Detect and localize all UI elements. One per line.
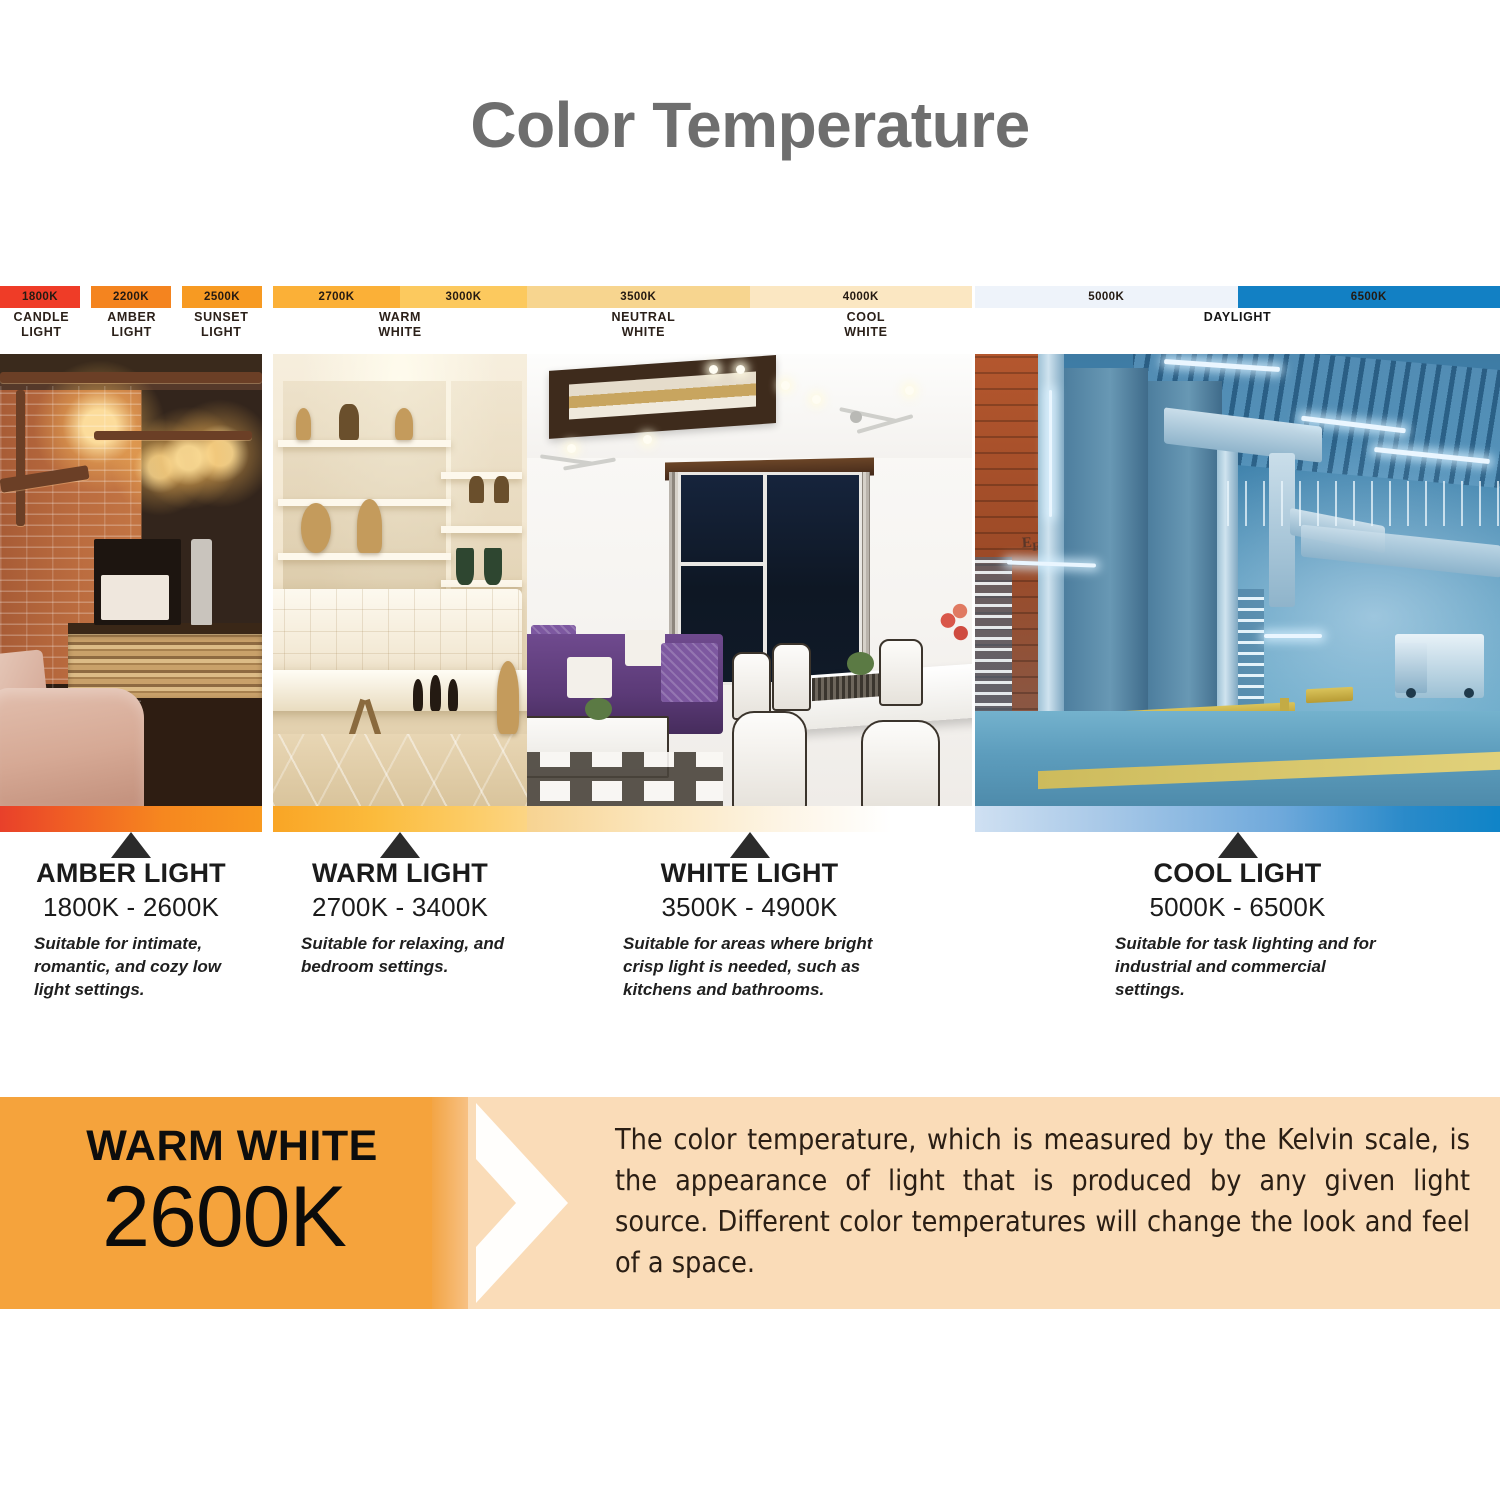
- kelvin-2700k: 2700K: [273, 286, 400, 308]
- sculpture-ring: [301, 503, 331, 553]
- chess-piece-1: [413, 679, 423, 711]
- label-candle-light: CANDLE LIGHT: [0, 308, 83, 354]
- potted-plant-2: [484, 548, 502, 584]
- shelf-right-2: [441, 526, 522, 533]
- coffee-grinder: [191, 539, 212, 625]
- photo-amber-cafe: [0, 354, 262, 806]
- statue-3: [395, 408, 413, 440]
- chevron-right-icon: [468, 1097, 588, 1309]
- pipe-vertical: [16, 390, 25, 526]
- caption-description: Suitable for areas where bright crisp li…: [623, 932, 901, 1001]
- kelvin-strip-warm-white: 2700K 3000K: [273, 286, 527, 308]
- statue-4: [357, 499, 382, 553]
- shelf-right-3: [441, 580, 522, 587]
- bottom-banner: WARM WHITE 2600K The color temperature, …: [0, 1097, 1500, 1309]
- ceiling-light-5: [905, 386, 914, 395]
- kelvin-4000k: 4000K: [750, 286, 973, 308]
- pointer-triangle-icon: [730, 832, 770, 858]
- label-line-2: LIGHT: [201, 325, 242, 340]
- light-pole-1: [1049, 390, 1052, 517]
- label-line-1: WARM: [379, 310, 421, 325]
- color-temperature-scale: 1800K 2200K 2500K CANDLE LIGHT AMBER LIG…: [0, 286, 1500, 806]
- pipe-ceiling-2: [94, 431, 251, 440]
- label-line-2: LIGHT: [21, 325, 62, 340]
- caption-title: AMBER LIGHT: [0, 858, 262, 889]
- caption-description: Suitable for intimate, romantic, and coz…: [34, 932, 234, 1001]
- pointer-triangle-icon: [380, 832, 420, 858]
- gradient-segment-amber: [0, 806, 262, 832]
- label-warm-white: WARM WHITE: [273, 308, 527, 354]
- label-row-amber: CANDLE LIGHT AMBER LIGHT SUNSET LIGHT: [0, 308, 262, 354]
- label-row-daylight: DAYLIGHT: [975, 308, 1500, 354]
- statue-2: [339, 404, 359, 440]
- gradient-segment-cool: [975, 806, 1500, 832]
- duct-3: [1301, 524, 1500, 577]
- banner-badge-edge: [432, 1097, 468, 1309]
- panel-neutral-cool-white: 3500K 4000K NEUTRAL WHITE COOL WHITE: [527, 286, 972, 806]
- delivery-truck-cab: [1395, 643, 1427, 693]
- kelvin-2200k: 2200K: [91, 286, 171, 308]
- page-title: Color Temperature: [0, 88, 1500, 162]
- kelvin-5000k: 5000K: [975, 286, 1238, 308]
- label-daylight: DAYLIGHT: [975, 308, 1500, 354]
- pointer-triangle-icon: [111, 832, 151, 858]
- dining-centerpiece-plant: [847, 652, 874, 675]
- kelvin-gap: [171, 286, 182, 308]
- window-mullion-vertical: [763, 475, 767, 683]
- label-row-neutral-cool: NEUTRAL WHITE COOL WHITE: [527, 308, 972, 354]
- cushion-white-2: [625, 630, 665, 666]
- sofa-seat: [273, 670, 527, 711]
- pointer-triangle-icon: [1218, 832, 1258, 858]
- fluorescent-tube-5: [1264, 634, 1322, 638]
- gradient-segment-warm: [273, 806, 527, 832]
- label-row-warm-white: WARM WHITE: [273, 308, 527, 354]
- kelvin-3500k: 3500K: [527, 286, 750, 308]
- panel-amber: 1800K 2200K 2500K CANDLE LIGHT AMBER LIG…: [0, 286, 262, 806]
- gradient-segment-white: [527, 806, 972, 832]
- photo-white-dining-room: [527, 354, 972, 806]
- banner-badge-title: WARM WHITE: [52, 1122, 412, 1171]
- label-line-2: LIGHT: [111, 325, 152, 340]
- label-neutral-white: NEUTRAL WHITE: [527, 308, 760, 354]
- kelvin-6500k: 6500K: [1238, 286, 1500, 308]
- vase-2: [494, 476, 509, 503]
- ceiling-light-4: [812, 395, 821, 404]
- kelvin-3000k: 3000K: [400, 286, 527, 308]
- kelvin-strip-neutral-cool: 3500K 4000K: [527, 286, 972, 308]
- caption-row: AMBER LIGHT 1800K - 2600K Suitable for i…: [0, 832, 1500, 1062]
- label-line-1: DAYLIGHT: [1204, 310, 1272, 325]
- shelf-1: [278, 440, 451, 447]
- dining-chair-4: [732, 711, 807, 806]
- pineapple-ornament: [497, 661, 520, 733]
- kelvin-strip-daylight: 5000K 6500K: [975, 286, 1500, 308]
- label-line-2: WHITE: [844, 325, 887, 340]
- chess-piece-3: [448, 679, 458, 711]
- kelvin-1800k: 1800K: [0, 286, 80, 308]
- cushion-purple-2: [661, 643, 719, 702]
- kelvin-strip-amber: 1800K 2200K 2500K: [0, 286, 262, 308]
- mezzanine-railing: [1227, 481, 1500, 526]
- caption-title: COOL LIGHT: [975, 858, 1500, 889]
- label-line-2: WHITE: [378, 325, 421, 340]
- photo-cream-living-room: [273, 354, 527, 806]
- kelvin-2500k: 2500K: [182, 286, 262, 308]
- chess-piece-2: [430, 675, 440, 711]
- ceiling-light-6: [643, 435, 652, 444]
- statue-1: [296, 408, 311, 440]
- flower-arrangement: [932, 589, 972, 652]
- caption-title: WHITE LIGHT: [527, 858, 972, 889]
- label-line-1: SUNSET: [194, 310, 248, 325]
- label-line-2: WHITE: [622, 325, 665, 340]
- banner-badge-value: 2600K: [44, 1169, 404, 1265]
- caption-range: 2700K - 3400K: [273, 892, 527, 923]
- table-plant: [585, 698, 612, 721]
- label-cool-white: COOL WHITE: [760, 308, 972, 354]
- leather-sofa: [0, 688, 144, 806]
- caption-description: Suitable for relaxing, and bedroom setti…: [301, 932, 513, 978]
- caption-description: Suitable for task lighting and for indus…: [1115, 932, 1387, 1001]
- dining-chair-3: [879, 639, 923, 706]
- label-line-1: CANDLE: [14, 310, 70, 325]
- patterned-floor-rug: [527, 752, 723, 806]
- window-mullion-horizontal: [681, 562, 766, 566]
- shelf-3: [278, 553, 451, 560]
- ceiling-fan-hub: [850, 411, 862, 423]
- panel-daylight: EF: [975, 286, 1500, 806]
- label-line-1: NEUTRAL: [611, 310, 675, 325]
- pipe-ceiling: [0, 372, 262, 383]
- espresso-machine: [94, 539, 180, 625]
- label-line-1: AMBER: [107, 310, 156, 325]
- dining-chair-5: [861, 720, 941, 806]
- caption-title: WARM LIGHT: [273, 858, 527, 889]
- label-sunset-light: SUNSET LIGHT: [181, 308, 262, 354]
- panel-warm-white: 2700K 3000K WARM WHITE: [273, 286, 527, 806]
- cushion-white-1: [567, 657, 612, 698]
- dining-chair-2: [772, 643, 812, 710]
- kelvin-gradient-bar: [0, 806, 1500, 832]
- label-line-1: COOL: [847, 310, 886, 325]
- label-amber-light: AMBER LIGHT: [94, 308, 170, 354]
- caption-range: 1800K - 2600K: [0, 892, 262, 923]
- ceiling-light-3: [781, 381, 790, 390]
- vase-1: [469, 476, 484, 503]
- label-gap: [83, 308, 94, 354]
- label-gap: [170, 308, 181, 354]
- stone-floor: [273, 734, 527, 806]
- banner-paragraph: The color temperature, which is measured…: [615, 1119, 1470, 1283]
- caption-range: 3500K - 4900K: [527, 892, 972, 923]
- kelvin-gap: [80, 286, 91, 308]
- dining-chair-1: [732, 652, 772, 719]
- photo-industrial-warehouse: EF: [975, 354, 1500, 806]
- caption-range: 5000K - 6500K: [975, 892, 1500, 923]
- floor-guard-rail-2: [1306, 687, 1353, 703]
- potted-plant-1: [456, 548, 474, 584]
